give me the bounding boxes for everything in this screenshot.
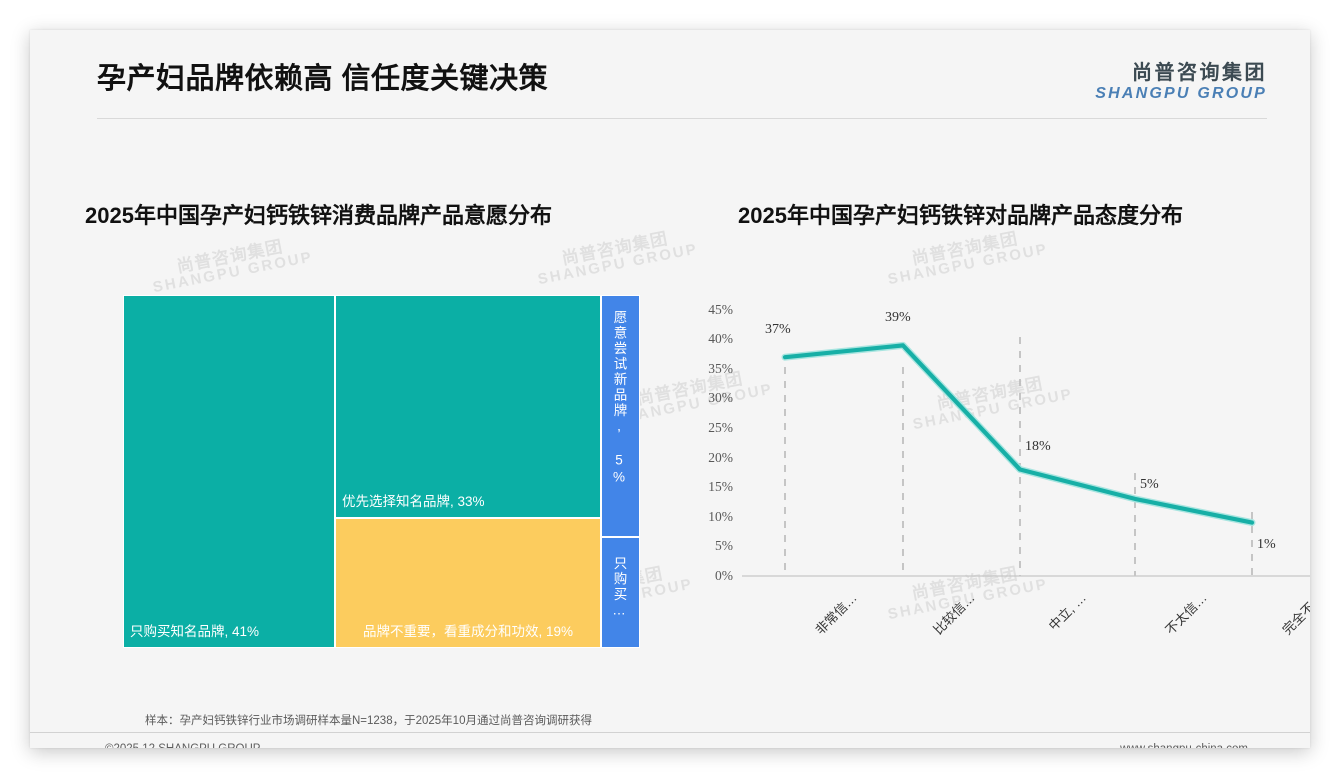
treemap-cell-label: 优先选择知名品牌, 33%: [342, 494, 594, 511]
line-chart: 0% 5% 10% 15% 20% 25% 30% 35% 40% 45% 37…: [685, 292, 1310, 652]
x-axis-label: 完全不…: [1277, 588, 1310, 638]
x-axis-label: 比较信…: [928, 588, 978, 638]
data-label: 37%: [765, 322, 791, 338]
watermark-en: SHANGPU GROUP: [152, 250, 315, 296]
watermark-cn: 尚普咨询集团: [883, 225, 1046, 273]
watermark-cn: 尚普咨询集团: [533, 225, 696, 273]
data-label: 18%: [1025, 439, 1051, 455]
footer: ©2025.12 SHANGPU GROUP www.shangpu-china…: [30, 733, 1310, 748]
treemap-cell-prefer-famous-brands[interactable]: 优先选择知名品牌, 33%: [335, 295, 601, 518]
line-series-halo: [785, 345, 1252, 522]
footer-copyright: ©2025.12 SHANGPU GROUP: [105, 743, 260, 748]
watermark-cn: 尚普咨询集团: [148, 233, 311, 281]
treemap-chart: 只购买知名品牌, 41% 优先选择知名品牌, 33% 品牌不重要，看重成分和功效…: [123, 295, 640, 648]
treemap-cell-only-buy-other[interactable]: 只购买…: [601, 537, 640, 648]
treemap-cell-only-famous-brands[interactable]: 只购买知名品牌, 41%: [123, 295, 335, 648]
treemap-cell-label: 只购买知名品牌, 41%: [130, 624, 328, 641]
sample-note: 样本：孕产妇钙铁锌行业市场调研样本量N=1238，于2025年10月通过尚普咨询…: [145, 712, 592, 728]
brand-logo: 尚普咨询集团 SHANGPU GROUP: [1095, 62, 1267, 103]
page-title: 孕产妇品牌依赖高 信任度关键决策: [97, 55, 548, 97]
header-divider: [97, 118, 1267, 119]
treemap-cell-label: 愿意尝试新品牌, 5%: [613, 310, 629, 487]
treemap-cell-label: 只购买…: [613, 556, 629, 620]
data-label: 1%: [1257, 537, 1276, 553]
watermark-en: SHANGPU GROUP: [537, 242, 700, 288]
line-series: [785, 345, 1252, 522]
right-chart-title: 2025年中国孕产妇钙铁锌对品牌产品态度分布: [738, 198, 1183, 230]
data-label: 39%: [885, 310, 911, 326]
logo-text-en: SHANGPU GROUP: [1095, 85, 1267, 103]
x-axis-label: 中立, …: [1044, 588, 1090, 634]
watermark-en: SHANGPU GROUP: [887, 242, 1050, 288]
x-axis-label: 不太信…: [1160, 588, 1210, 638]
treemap-cell-willing-try-new-brands[interactable]: 愿意尝试新品牌, 5%: [601, 295, 640, 537]
treemap-cell-brand-not-important[interactable]: 品牌不重要，看重成分和功效, 19%: [335, 518, 601, 648]
data-label: 5%: [1140, 477, 1159, 493]
treemap-cell-label: 品牌不重要，看重成分和功效, 19%: [340, 624, 596, 641]
header: 孕产妇品牌依赖高 信任度关键决策 尚普咨询集团 SHANGPU GROUP: [30, 30, 1310, 122]
footer-website[interactable]: www.shangpu-china.com: [1120, 743, 1248, 748]
logo-text-cn: 尚普咨询集团: [1095, 62, 1267, 85]
x-axis-label: 非常信…: [810, 588, 860, 638]
left-chart-title: 2025年中国孕产妇钙铁锌消费品牌产品意愿分布: [85, 198, 552, 230]
slide-card: 尚普咨询集团 SHANGPU GROUP 尚普咨询集团 SHANGPU GROU…: [30, 30, 1310, 748]
